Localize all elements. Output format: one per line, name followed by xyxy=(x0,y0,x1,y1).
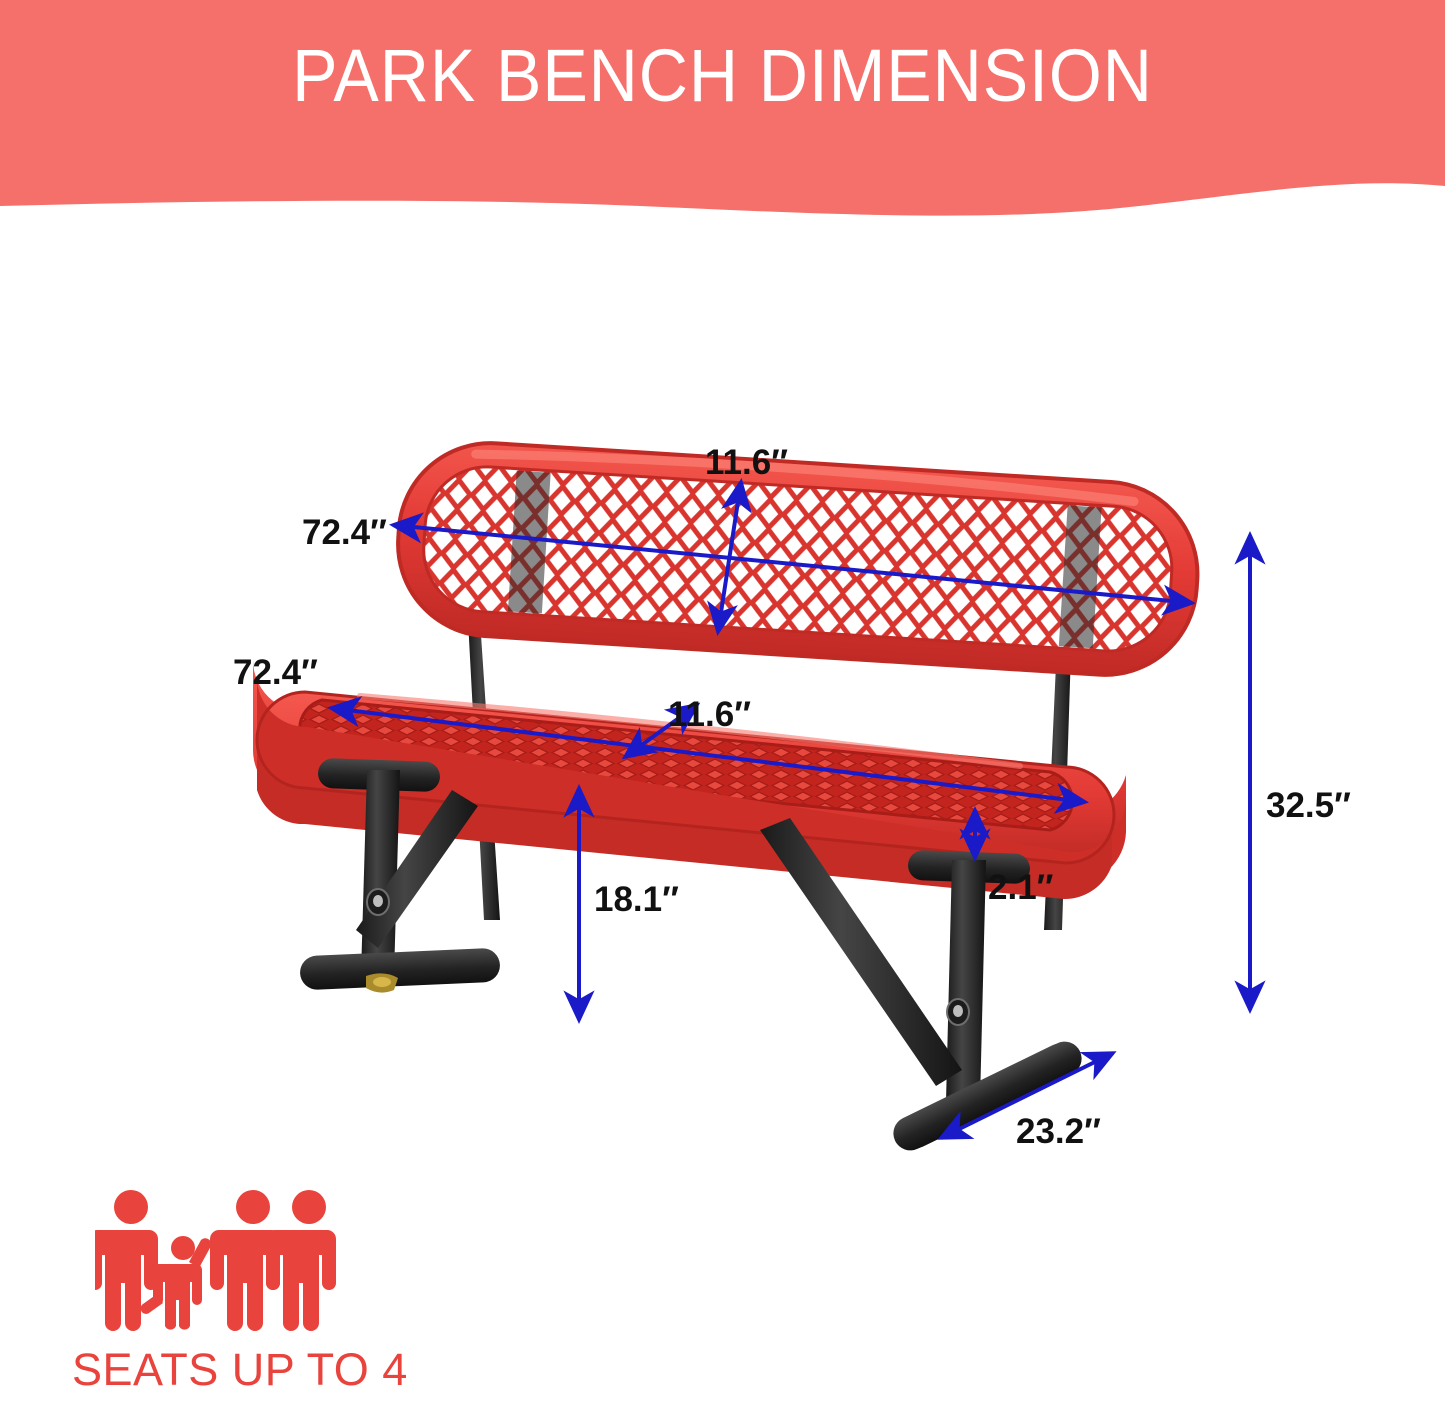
capacity-label: SEATS UP TO 4 xyxy=(72,1345,408,1395)
page-title: PARK BENCH DIMENSION xyxy=(58,36,1387,116)
header-banner: PARK BENCH DIMENSION xyxy=(0,0,1445,230)
adult-figure-icon xyxy=(266,1190,336,1331)
bench-diagram: 72.4″ 11.6″ 72.4″ 11.6″ 2.1″ 18.1″ 32.5″… xyxy=(0,230,1445,1190)
dimension-label-backrest-length: 72.4″ xyxy=(302,515,387,550)
dimension-label-seat-depth: 11.6″ xyxy=(668,697,751,732)
dimension-label-seat-thickness: 2.1″ xyxy=(988,870,1053,905)
backrest-panel xyxy=(362,438,1246,681)
dimension-label-seat-height: 18.1″ xyxy=(594,882,679,917)
dimension-label-overall-height: 32.5″ xyxy=(1266,788,1351,823)
dimension-label-overall-depth: 23.2″ xyxy=(1016,1114,1101,1149)
dimension-label-backrest-height: 11.6″ xyxy=(705,445,788,480)
people-pictogram-group xyxy=(95,1190,375,1350)
dimension-label-seat-length: 72.4″ xyxy=(233,655,318,690)
